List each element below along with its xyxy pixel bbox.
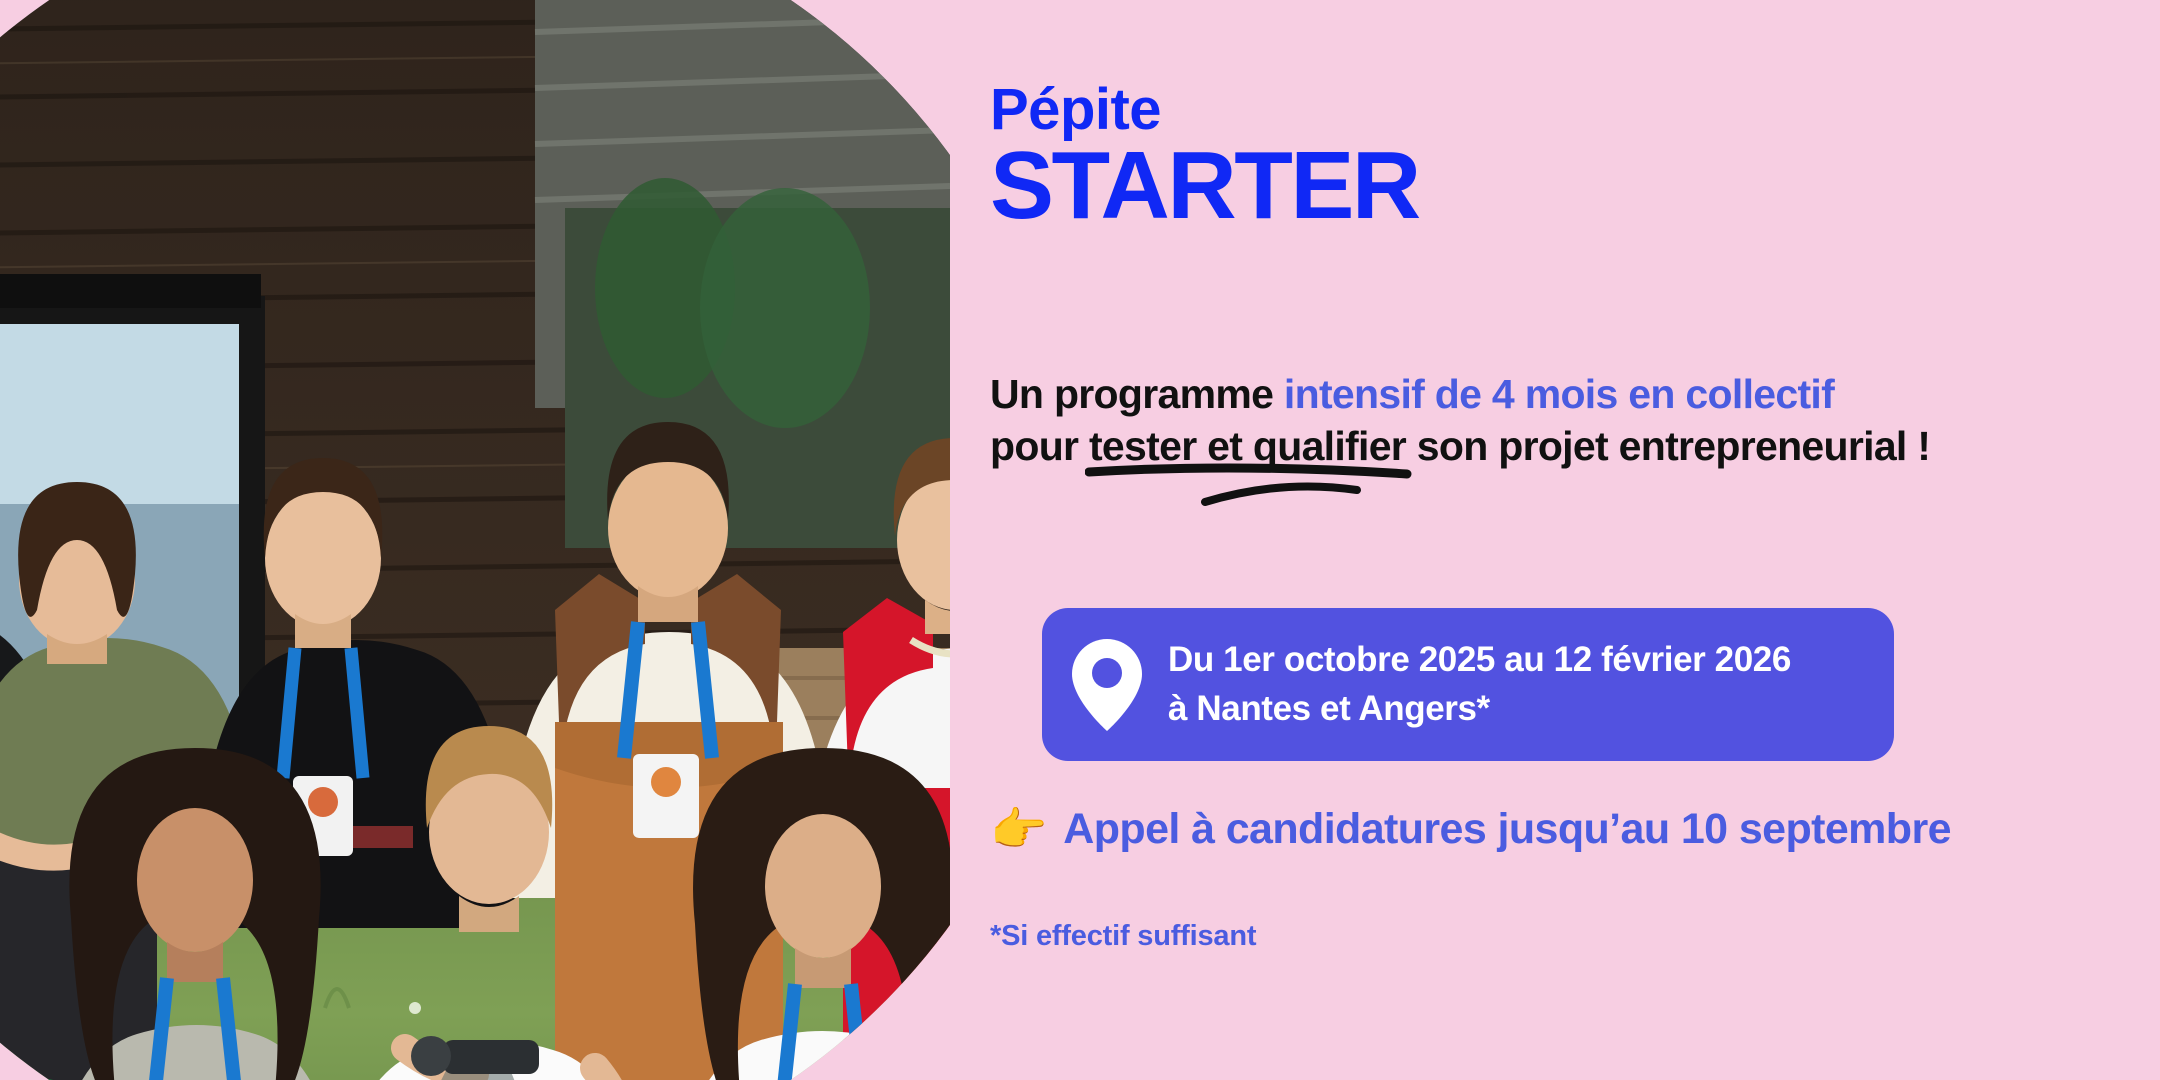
content-panel: Pépite STARTER Un programme intensif de … bbox=[990, 0, 2110, 1080]
brand-kicker: Pépite bbox=[990, 82, 1419, 138]
location-date-badge: Du 1er octobre 2025 au 12 février 2026 à… bbox=[1042, 608, 1894, 761]
map-pin-icon bbox=[1072, 639, 1142, 731]
tagline-line-1: Un programme intensif de 4 mois en colle… bbox=[990, 368, 2080, 420]
title-block: Pépite STARTER bbox=[990, 82, 1419, 231]
badge-dates: Du 1er octobre 2025 au 12 février 2026 bbox=[1168, 636, 1791, 684]
badge-cities: à Nantes et Angers* bbox=[1168, 685, 1791, 733]
badge-text: Du 1er octobre 2025 au 12 février 2026 à… bbox=[1168, 636, 1791, 733]
tagline-highlight: intensif de 4 mois en collectif bbox=[1284, 371, 1834, 417]
group-photo-illustration: ATU KAPA ONSERVATI bbox=[0, 0, 950, 1080]
hero-photo-circle-mask: ATU KAPA ONSERVATI bbox=[0, 0, 950, 1080]
footnote: *Si effectif suffisant bbox=[990, 920, 1256, 953]
program-wordmark: STARTER bbox=[990, 140, 1419, 231]
tagline-prefix: Un programme bbox=[990, 371, 1284, 417]
pointing-right-icon: 👉 bbox=[990, 806, 1047, 852]
promo-banner: ATU KAPA ONSERVATI bbox=[0, 0, 2160, 1080]
call-for-applications-text: Appel à candidatures jusqu’au 10 septemb… bbox=[1063, 808, 1951, 851]
handdrawn-underline-icon bbox=[1085, 456, 1415, 516]
hero-photo: ATU KAPA ONSERVATI bbox=[0, 0, 950, 1080]
tagline: Un programme intensif de 4 mois en colle… bbox=[990, 368, 2080, 473]
call-for-applications: 👉 Appel à candidatures jusqu’au 10 septe… bbox=[990, 806, 1951, 852]
